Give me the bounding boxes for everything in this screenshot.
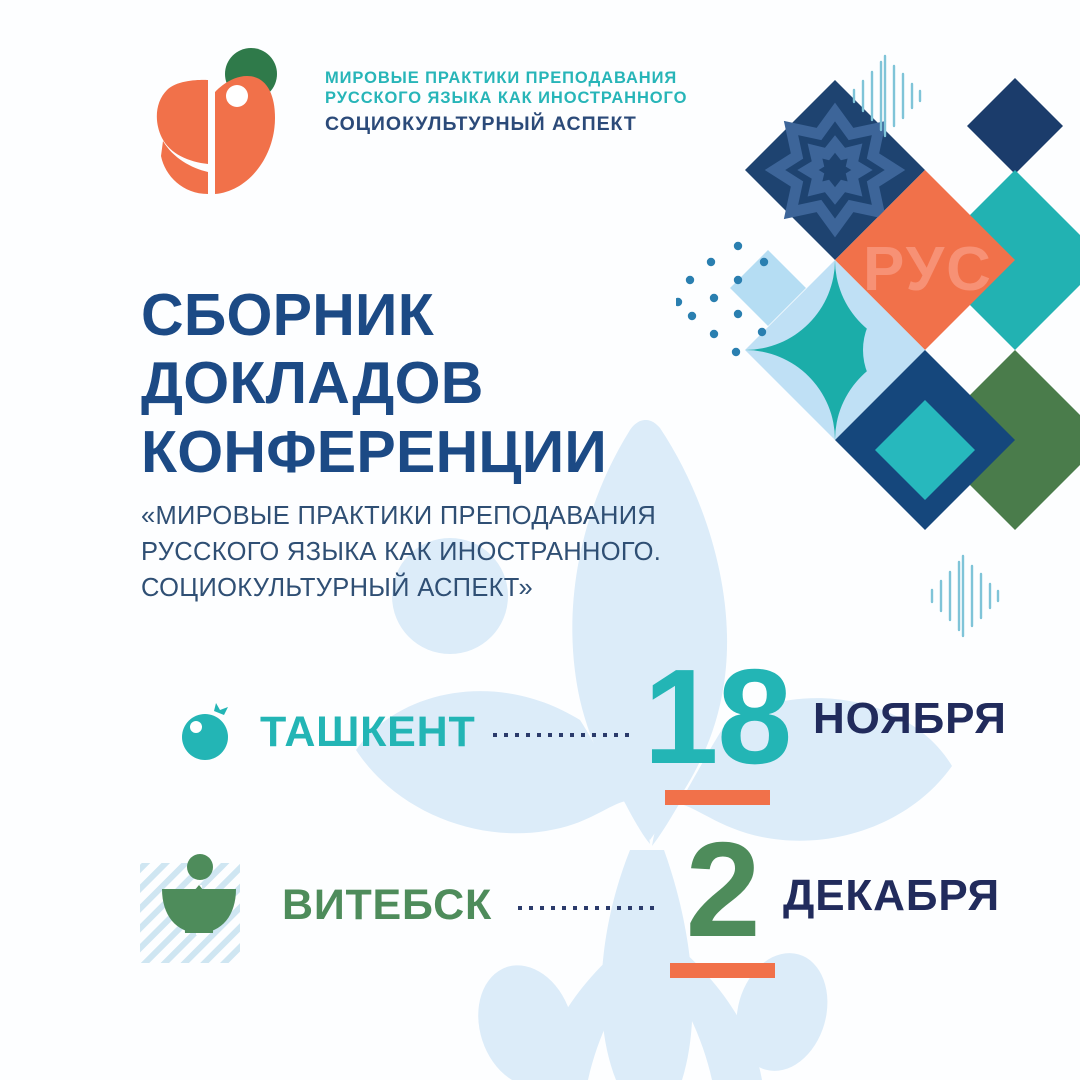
date-block-tashkent: 18 bbox=[643, 659, 790, 804]
day-underline bbox=[665, 790, 770, 805]
logo-line-3: СОЦИОКУЛЬТУРНЫЙ АСПЕКТ bbox=[325, 113, 687, 137]
title-line-2: ДОКЛАДОВ bbox=[141, 349, 607, 417]
dot-cluster-decoration bbox=[676, 236, 826, 386]
logo-line-1: МИРОВЫЕ ПРАКТИКИ ПРЕПОДАВАНИЯ bbox=[325, 68, 687, 88]
day-underline bbox=[670, 963, 775, 978]
pattern-word: РУС bbox=[863, 235, 993, 304]
cornflower-icon bbox=[140, 845, 260, 965]
event-row-vitebsk: ВИТЕБСК 2 ДЕКАБРЯ bbox=[140, 845, 1000, 965]
page-subtitle: «МИРОВЫЕ ПРАКТИКИ ПРЕПОДАВАНИЯ РУССКОГО … bbox=[141, 498, 661, 607]
title-line-3: КОНФЕРЕНЦИИ bbox=[141, 418, 607, 486]
city-name-tashkent: ТАШКЕНТ bbox=[260, 708, 475, 757]
logo-block: МИРОВЫЕ ПРАКТИКИ ПРЕПОДАВАНИЯ РУССКОГО Я… bbox=[133, 46, 687, 206]
day-number-vitebsk: 2 bbox=[686, 832, 760, 948]
day-number-tashkent: 18 bbox=[643, 659, 790, 775]
bird-leaf-logo bbox=[133, 46, 293, 206]
poster-canvas: РУС bbox=[0, 0, 1080, 1080]
subtitle-line-1: «МИРОВЫЕ ПРАКТИКИ ПРЕПОДАВАНИЯ bbox=[141, 498, 661, 534]
leader-dots bbox=[493, 732, 629, 738]
page-title: СБОРНИК ДОКЛАДОВ КОНФЕРЕНЦИИ bbox=[141, 281, 607, 486]
subtitle-line-3: СОЦИОКУЛЬТУРНЫЙ АСПЕКТ» bbox=[141, 570, 661, 606]
city-name-vitebsk: ВИТЕБСК bbox=[282, 881, 492, 930]
geometric-diamond-pattern: РУС bbox=[660, 0, 1080, 620]
date-block-vitebsk: 2 bbox=[670, 832, 775, 977]
pomegranate-icon bbox=[176, 701, 238, 763]
leader-dots bbox=[518, 905, 654, 911]
equalizer-diamond-icon bbox=[840, 52, 930, 138]
month-name-tashkent: НОЯБРЯ bbox=[813, 694, 1007, 744]
month-name-vitebsk: ДЕКАБРЯ bbox=[783, 871, 1000, 921]
equalizer-diamond-icon bbox=[918, 552, 1008, 638]
title-line-1: СБОРНИК bbox=[141, 281, 607, 349]
logo-line-2: РУССКОГО ЯЗЫКА КАК ИНОСТРАННОГО bbox=[325, 88, 687, 108]
subtitle-line-2: РУССКОГО ЯЗЫКА КАК ИНОСТРАННОГО. bbox=[141, 534, 661, 570]
event-row-tashkent: ТАШКЕНТ 18 НОЯБРЯ bbox=[176, 672, 1007, 792]
